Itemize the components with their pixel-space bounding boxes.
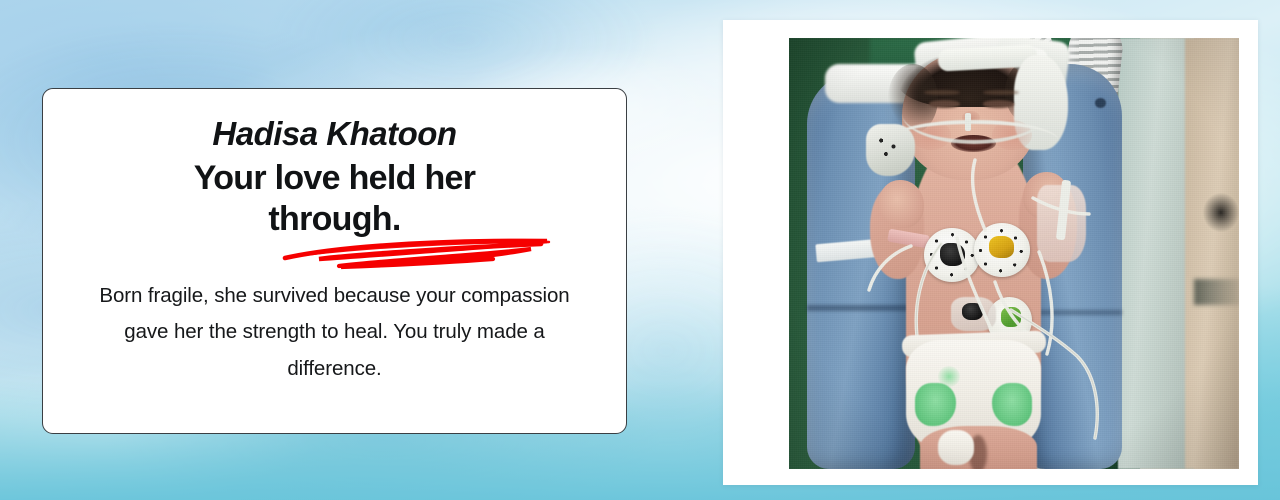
donor-impact-banner: Hadisa Khatoon Your love held her throug… [0, 0, 1280, 500]
red-hand-drawn-underline-icon [279, 238, 579, 272]
beneficiary-name: Hadisa Khatoon [212, 115, 456, 154]
page-title: Your love held her through. [155, 158, 515, 240]
beneficiary-photo [789, 38, 1239, 469]
photo-frame [723, 20, 1258, 485]
story-body-text: Born fragile, she survived because your … [79, 278, 591, 389]
underline-container [69, 238, 600, 272]
story-card: Hadisa Khatoon Your love held her throug… [42, 88, 627, 434]
photo-vignette [789, 38, 1239, 469]
